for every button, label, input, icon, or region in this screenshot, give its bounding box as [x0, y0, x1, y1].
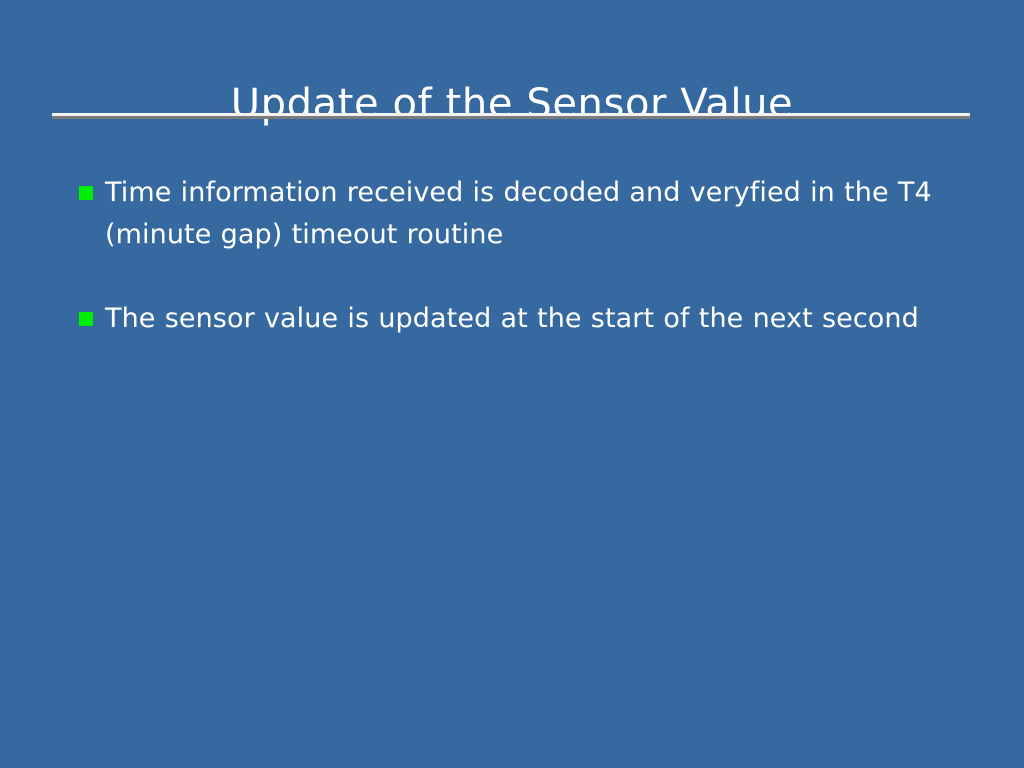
page-title: Update of the Sensor Value: [231, 79, 793, 129]
slide-body-content: Time information received is decoded and…: [78, 172, 958, 340]
bullet-text: The sensor value is updated at the start…: [105, 298, 950, 340]
presentation-slide: Update of the Sensor Value Time informat…: [0, 0, 1024, 768]
divider-shadow-line: [52, 116, 970, 119]
list-item: The sensor value is updated at the start…: [78, 298, 958, 340]
list-item: Time information received is decoded and…: [78, 172, 958, 256]
green-square-bullet-icon: [79, 312, 93, 326]
slide-title-block: Update of the Sensor Value: [0, 52, 1024, 156]
green-square-bullet-icon: [79, 186, 93, 200]
bullet-text: Time information received is decoded and…: [105, 172, 950, 256]
title-divider-rule: [52, 113, 970, 119]
